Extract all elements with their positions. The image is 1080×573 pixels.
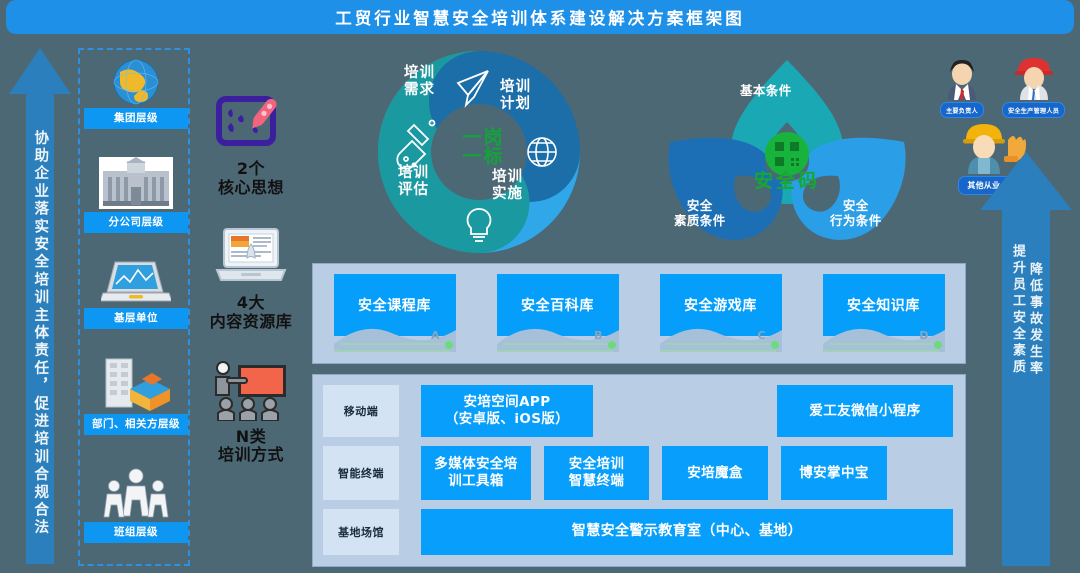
- concept-training-method[interactable]: N类 培训方式: [196, 352, 306, 466]
- library-card-b[interactable]: 安全百科库 B: [497, 274, 619, 354]
- businessman-icon: [940, 54, 984, 100]
- right-arrow-text-wrap: 提升员工安全素质 降低事故发生率: [978, 244, 1074, 378]
- concept-icon-column: 2个 核心思想: [196, 84, 306, 485]
- tablet-pen-icon: [196, 84, 306, 160]
- library-letter: C: [757, 329, 765, 342]
- right-up-arrow: 提升员工安全素质 降低事故发生率: [978, 148, 1074, 568]
- platform-row-cells: 智慧安全警示教育室（中心、基地）: [421, 509, 953, 555]
- concept-caption: 4大 内容资源库: [196, 294, 306, 332]
- platform-row-venue: 基地场馆 智慧安全警示教育室（中心、基地）: [323, 509, 953, 555]
- clover-label-quality: 安全素质条件: [674, 198, 726, 228]
- diagram-canvas: 工贸行业智慧安全培训体系建设解决方案框架图 协助企业落实安全培训主体责任，促进培…: [0, 0, 1080, 573]
- person-safety-manager[interactable]: 安全生产管理人员: [1002, 54, 1065, 118]
- library-dot: [771, 341, 779, 349]
- clover-label-basic: 基本条件: [740, 83, 792, 98]
- resource-library-panel: 安全课程库 A 安全百科库 B 安全游戏库: [312, 263, 966, 364]
- left-arrow-text-wrap: 协助企业落实安全培训主体责任，促进培训合规合法: [8, 130, 72, 560]
- platform-item-miniprogram[interactable]: 爱工友微信小程序: [777, 385, 953, 437]
- left-up-arrow: 协助企业落实安全培训主体责任，促进培训合规合法: [8, 42, 72, 567]
- level-label: 集团层级: [84, 108, 188, 129]
- platform-item-magic-box[interactable]: 安培魔盒: [662, 446, 768, 500]
- platform-item-education-room[interactable]: 智慧安全警示教育室（中心、基地）: [421, 509, 953, 555]
- level-label: 班组层级: [84, 522, 188, 543]
- presenter-icon: [196, 352, 306, 428]
- cycle-center-text: 一一 岗标: [444, 109, 516, 183]
- level-item-team[interactable]: 班组层级: [84, 464, 188, 543]
- platform-row-mobile: 移动端 安培空间APP（安卓版、iOS版） 爱工友微信小程序: [323, 385, 953, 437]
- platform-row-cells: 多媒体安全培训工具箱 安全培训智慧终端 安培魔盒 博安掌中宝: [421, 446, 953, 500]
- laptop-icon: [84, 256, 188, 308]
- person-principal[interactable]: 主要负责人: [940, 54, 984, 118]
- library-wave: [823, 274, 945, 354]
- concept-core-idea[interactable]: 2个 核心思想: [196, 84, 306, 198]
- library-card-c[interactable]: 安全游戏库 C: [660, 274, 782, 354]
- level-label: 基层单位: [84, 308, 188, 329]
- office-icon: [84, 356, 188, 414]
- concept-content-library[interactable]: 4大 内容资源库: [196, 218, 306, 332]
- library-dot: [608, 341, 616, 349]
- clover-label-behavior: 安全行为条件: [830, 198, 882, 228]
- platform-item-handheld[interactable]: 博安掌中宝: [781, 446, 887, 500]
- person-label: 主要负责人: [940, 102, 984, 118]
- level-item-unit[interactable]: 基层单位: [84, 256, 188, 329]
- platform-item-app[interactable]: 安培空间APP（安卓版、iOS版）: [421, 385, 593, 437]
- library-card-d[interactable]: 安全知识库 D: [823, 274, 945, 354]
- cycle-label-evaluation: 培训评估: [398, 165, 429, 198]
- person-label: 安全生产管理人员: [1002, 102, 1065, 118]
- level-item-department[interactable]: 部门、相关方层级: [84, 356, 188, 435]
- laptop-book-icon: [196, 218, 306, 294]
- cycle-label-plan: 培训计划: [500, 79, 531, 112]
- safety-code-label: 安全码: [732, 166, 842, 193]
- level-label: 部门、相关方层级: [84, 414, 188, 435]
- library-card-a[interactable]: 安全课程库 A: [334, 274, 456, 354]
- platform-spacer: [593, 385, 733, 437]
- page-title-bar: 工贸行业智慧安全培训体系建设解决方案框架图: [6, 0, 1074, 34]
- level-label: 分公司层级: [84, 212, 188, 233]
- level-item-group[interactable]: 集团层级: [84, 56, 188, 129]
- platform-item-smart-terminal[interactable]: 安全培训智慧终端: [544, 446, 649, 500]
- platform-row-label: 智能终端: [323, 446, 399, 500]
- people-icon: [84, 464, 188, 522]
- library-wave: [497, 274, 619, 354]
- page-title: 工贸行业智慧安全培训体系建设解决方案框架图: [335, 5, 745, 29]
- library-wave: [660, 274, 782, 354]
- concept-caption: N类 培训方式: [196, 428, 306, 466]
- training-cycle-diagram: 培训需求 培训计划 培训实施 培训评估 一一 岗标: [372, 47, 587, 257]
- right-arrow-text-1: 提升员工安全素质: [1011, 244, 1024, 378]
- building-icon: [84, 154, 188, 212]
- library-letter: A: [431, 329, 440, 342]
- red-helmet-icon: [1002, 54, 1065, 100]
- cycle-center-col1: 一一: [460, 127, 480, 165]
- platform-row-label: 移动端: [323, 385, 399, 437]
- level-item-branch[interactable]: 分公司层级: [84, 154, 188, 233]
- platform-panel: 移动端 安培空间APP（安卓版、iOS版） 爱工友微信小程序 智能终端 多媒体安…: [312, 374, 966, 567]
- safety-code-diagram: 基本条件 安全素质条件 安全行为条件 安全码: [652, 58, 922, 258]
- library-dot: [934, 341, 942, 349]
- platform-row-terminal: 智能终端 多媒体安全培训工具箱 安全培训智慧终端 安培魔盒 博安掌中宝: [323, 446, 953, 500]
- library-dot: [445, 341, 453, 349]
- cycle-center-col2: 岗标: [481, 127, 501, 165]
- concept-caption: 2个 核心思想: [196, 160, 306, 198]
- left-arrow-text: 协助企业落实安全培训主体责任，促进培训合规合法: [33, 130, 48, 537]
- platform-item-toolbox[interactable]: 多媒体安全培训工具箱: [421, 446, 531, 500]
- platform-row-cells: 安培空间APP（安卓版、iOS版） 爱工友微信小程序: [421, 385, 953, 437]
- library-letter: B: [594, 329, 602, 342]
- globe-icon: [84, 56, 188, 108]
- right-arrow-text-2: 降低事故发生率: [1028, 262, 1041, 378]
- cycle-label-need: 培训需求: [404, 65, 435, 98]
- library-letter: D: [919, 329, 928, 342]
- platform-row-label: 基地场馆: [323, 509, 399, 555]
- org-level-column: 集团层级: [78, 48, 190, 566]
- library-wave: [334, 274, 456, 354]
